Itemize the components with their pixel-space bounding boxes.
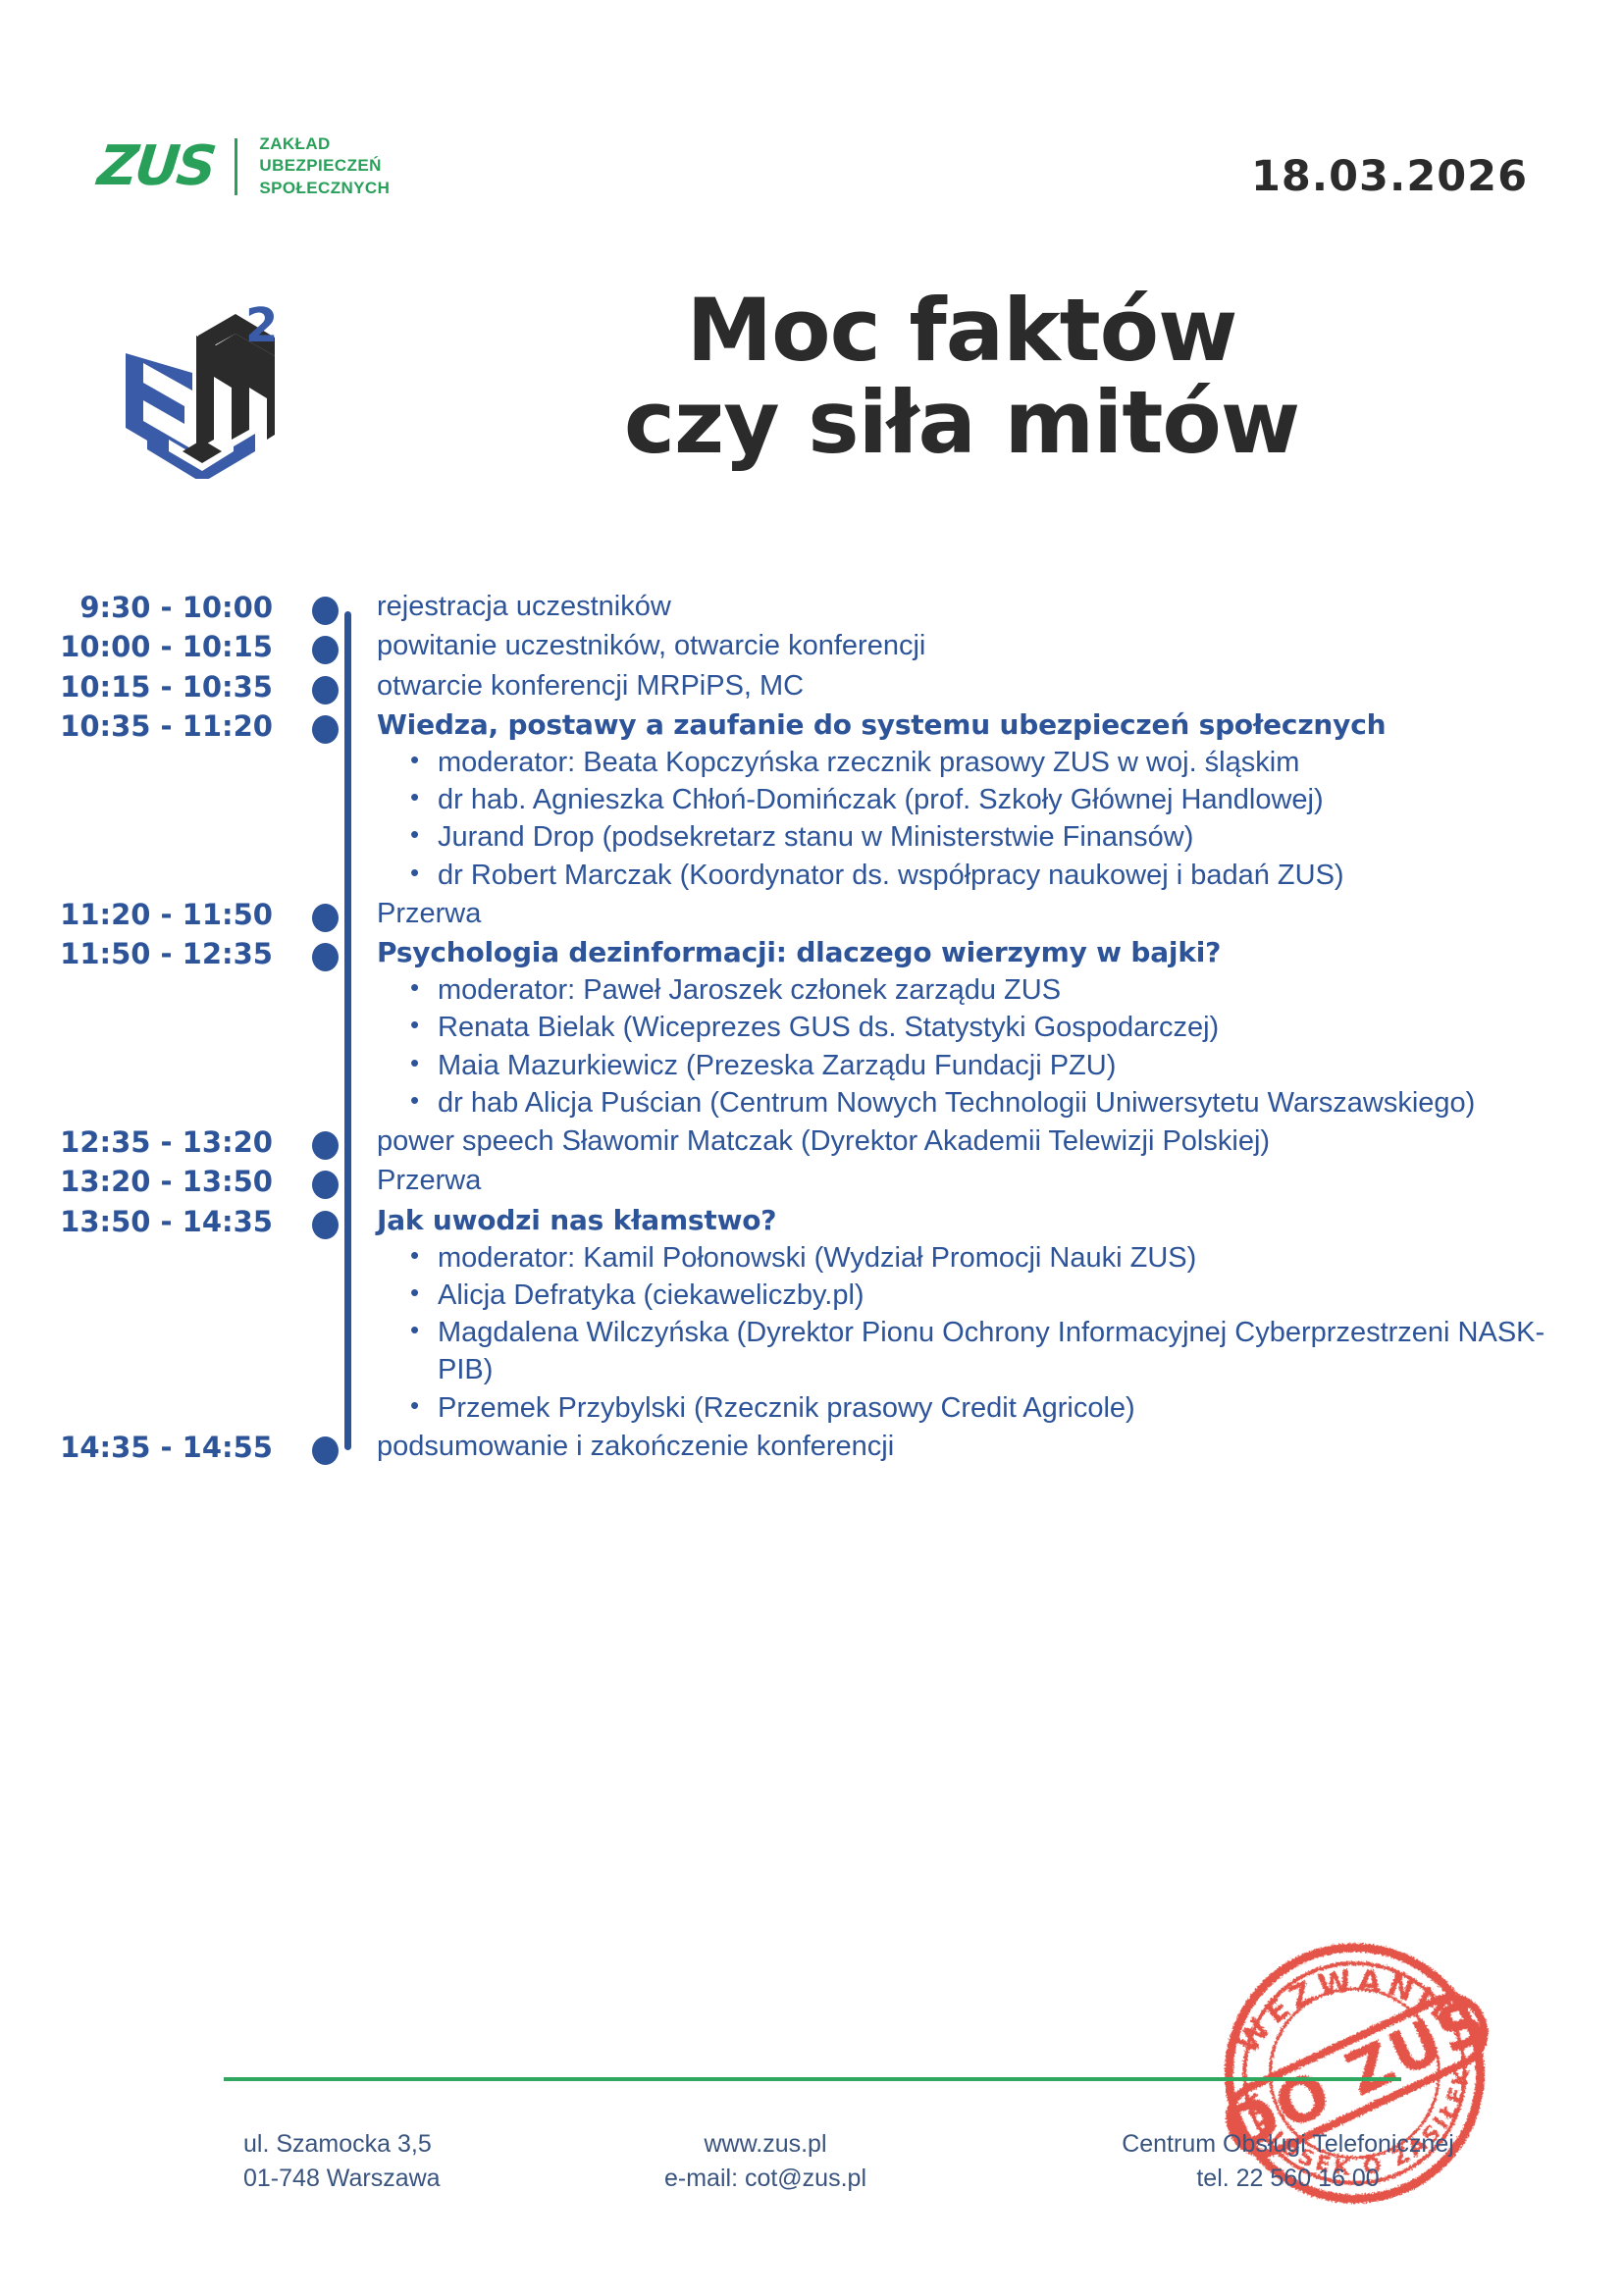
agenda-row: 10:35 - 11:20Wiedza, postawy a zaufanie …: [0, 707, 1624, 896]
agenda-row-content: Przerwa: [377, 1163, 1624, 1200]
agenda-row-time: 14:35 - 14:55: [0, 1429, 294, 1466]
speaker-list: moderator: Paweł Jaroszek członek zarząd…: [377, 971, 1565, 1122]
page-title: Moc faktów czy siła mitów: [412, 285, 1511, 469]
speaker-list-item: Alicja Defratyka (ciekaweliczby.pl): [410, 1277, 1565, 1314]
zus-logo: ZUS ZAKŁAD UBEZPIECZEŃ SPOŁECZNYCH: [98, 133, 390, 199]
agenda-item-label: otwarcie konferencji MRPiPS, MC: [377, 668, 1565, 705]
zus-logo-divider: [235, 138, 237, 195]
speaker-list-item: Maia Mazurkiewicz (Prezeska Zarządu Fund…: [410, 1047, 1565, 1084]
session-title: Psychologia dezinformacji: dlaczego wier…: [377, 935, 1565, 971]
agenda-row-content: Psychologia dezinformacji: dlaczego wier…: [377, 935, 1624, 1122]
zus-logo-mark: ZUS: [95, 139, 216, 194]
footer-cot-phone: tel. 22 560 16 00: [981, 2162, 1595, 2196]
agenda-row-content: rejestracja uczestników: [377, 589, 1624, 626]
agenda-item-label: Przerwa: [377, 896, 1565, 933]
agenda-row: 13:20 - 13:50Przerwa: [0, 1163, 1624, 1202]
timeline-dot: [312, 597, 339, 625]
agenda-row: 12:35 - 13:20power speech Sławomir Matcz…: [0, 1123, 1624, 1163]
agenda-row: 10:15 - 10:35otwarcie konferencji MRPiPS…: [0, 668, 1624, 707]
page-title-line-1: Moc faktów: [412, 285, 1511, 377]
speaker-list-item: dr hab. Agnieszka Chłoń-Domińczak (prof.…: [410, 781, 1565, 818]
agenda-row: 14:35 - 14:55podsumowanie i zakończenie …: [0, 1429, 1624, 1468]
footer-call-center: Centrum Obsługi Telefonicznej tel. 22 56…: [981, 2127, 1624, 2195]
page-header: ZUS ZAKŁAD UBEZPIECZEŃ SPOŁECZNYCH 18.03…: [0, 0, 1624, 265]
timeline-dot: [312, 1211, 339, 1239]
title-block: 2 Moc faktów czy siła mitów: [0, 285, 1624, 520]
speaker-list-item: dr Robert Marczak (Koordynator ds. współ…: [410, 857, 1565, 894]
footer-divider: [224, 2077, 1401, 2081]
agenda-row: 11:50 - 12:35Psychologia dezinformacji: …: [0, 935, 1624, 1123]
agenda-row: 13:50 - 14:35Jak uwodzi nas kłamstwo?mod…: [0, 1203, 1624, 1429]
agenda-row-time: 13:20 - 13:50: [0, 1163, 294, 1200]
session-title: Jak uwodzi nas kłamstwo?: [377, 1203, 1565, 1239]
speaker-list-item: moderator: Beata Kopczyńska rzecznik pra…: [410, 744, 1565, 781]
timeline-dot: [312, 636, 339, 664]
speaker-list-item: Jurand Drop (podsekretarz stanu w Minist…: [410, 818, 1565, 856]
agenda-item-label: powitanie uczestników, otwarcie konferen…: [377, 628, 1565, 665]
timeline-dot: [312, 715, 339, 744]
speaker-list-item: dr hab Alicja Puścian (Centrum Nowych Te…: [410, 1084, 1565, 1122]
agenda-row-time: 10:35 - 11:20: [0, 707, 294, 745]
agenda-item-label: Przerwa: [377, 1163, 1565, 1200]
agenda-row-time: 11:20 - 11:50: [0, 896, 294, 933]
agenda-timeline: 9:30 - 10:00rejestracja uczestników10:00…: [0, 589, 1624, 1468]
agenda-row: 9:30 - 10:00rejestracja uczestników: [0, 589, 1624, 628]
footer-address: ul. Szamocka 3,5 01-748 Warszawa: [0, 2127, 550, 2195]
agenda-row-content: Jak uwodzi nas kłamstwo?moderator: Kamil…: [377, 1203, 1624, 1427]
agenda-row-content: power speech Sławomir Matczak (Dyrektor …: [377, 1123, 1624, 1161]
page-title-line-2: czy siła mitów: [412, 377, 1511, 469]
speaker-list-item: Przemek Przybylski (Rzecznik prasowy Cre…: [410, 1389, 1565, 1427]
event-date: 18.03.2026: [1251, 152, 1528, 201]
timeline-dot: [312, 904, 339, 932]
zus-logo-line-3: SPOŁECZNYCH: [259, 178, 390, 199]
agenda-row-time: 11:50 - 12:35: [0, 935, 294, 972]
speaker-list-item: Magdalena Wilczyńska (Dyrektor Pionu Och…: [410, 1314, 1565, 1389]
agenda-row: 10:00 - 10:15powitanie uczestników, otwa…: [0, 628, 1624, 667]
timeline-dot: [312, 943, 339, 971]
agenda-row-time: 12:35 - 13:20: [0, 1123, 294, 1161]
agenda-item-label: power speech Sławomir Matczak (Dyrektor …: [377, 1123, 1565, 1161]
agenda-row-content: Wiedza, postawy a zaufanie do systemu ub…: [377, 707, 1624, 894]
agenda-item-label: podsumowanie i zakończenie konferencji: [377, 1429, 1565, 1466]
zus-logo-line-1: ZAKŁAD: [259, 133, 390, 155]
svg-text:2: 2: [245, 302, 278, 353]
agenda-row-content: otwarcie konferencji MRPiPS, MC: [377, 668, 1624, 705]
speaker-list: moderator: Beata Kopczyńska rzecznik pra…: [377, 744, 1565, 894]
agenda-row-time: 9:30 - 10:00: [0, 589, 294, 626]
speaker-list-item: moderator: Paweł Jaroszek członek zarząd…: [410, 971, 1565, 1009]
footer-cot-label: Centrum Obsługi Telefonicznej: [981, 2127, 1595, 2162]
speaker-list: moderator: Kamil Połonowski (Wydział Pro…: [377, 1239, 1565, 1427]
speaker-list-item: Renata Bielak (Wiceprezes GUS ds. Statys…: [410, 1009, 1565, 1046]
agenda-row: 11:20 - 11:50Przerwa: [0, 896, 1624, 935]
speaker-list-item: moderator: Kamil Połonowski (Wydział Pro…: [410, 1239, 1565, 1277]
session-title: Wiedza, postawy a zaufanie do systemu ub…: [377, 707, 1565, 744]
page-footer: ul. Szamocka 3,5 01-748 Warszawa www.zus…: [0, 2127, 1624, 2195]
footer-address-line-1: ul. Szamocka 3,5: [243, 2127, 550, 2162]
timeline-dot: [312, 1436, 339, 1465]
agenda-item-label: rejestracja uczestników: [377, 589, 1565, 626]
footer-contact: www.zus.pl e-mail: cot@zus.pl: [550, 2127, 981, 2195]
poster-page: ZUS ZAKŁAD UBEZPIECZEŃ SPOŁECZNYCH 18.03…: [0, 0, 1624, 2296]
timeline-dot: [312, 1131, 339, 1160]
timeline-dot: [312, 676, 339, 704]
agenda-row-time: 10:00 - 10:15: [0, 628, 294, 665]
footer-website[interactable]: www.zus.pl: [550, 2127, 981, 2162]
agenda-row-content: Przerwa: [377, 896, 1624, 933]
zus-logo-wordmark: ZAKŁAD UBEZPIECZEŃ SPOŁECZNYCH: [259, 133, 390, 199]
agenda-row-time: 10:15 - 10:35: [0, 668, 294, 705]
agenda-rows: 9:30 - 10:00rejestracja uczestników10:00…: [0, 589, 1624, 1468]
em2-cube-logo: 2: [108, 302, 285, 479]
footer-address-line-2: 01-748 Warszawa: [243, 2162, 550, 2196]
zus-logo-line-2: UBEZPIECZEŃ: [259, 155, 390, 177]
agenda-row-content: powitanie uczestników, otwarcie konferen…: [377, 628, 1624, 665]
footer-email[interactable]: e-mail: cot@zus.pl: [550, 2162, 981, 2196]
timeline-dot: [312, 1171, 339, 1199]
agenda-row-time: 13:50 - 14:35: [0, 1203, 294, 1240]
agenda-row-content: podsumowanie i zakończenie konferencji: [377, 1429, 1624, 1466]
